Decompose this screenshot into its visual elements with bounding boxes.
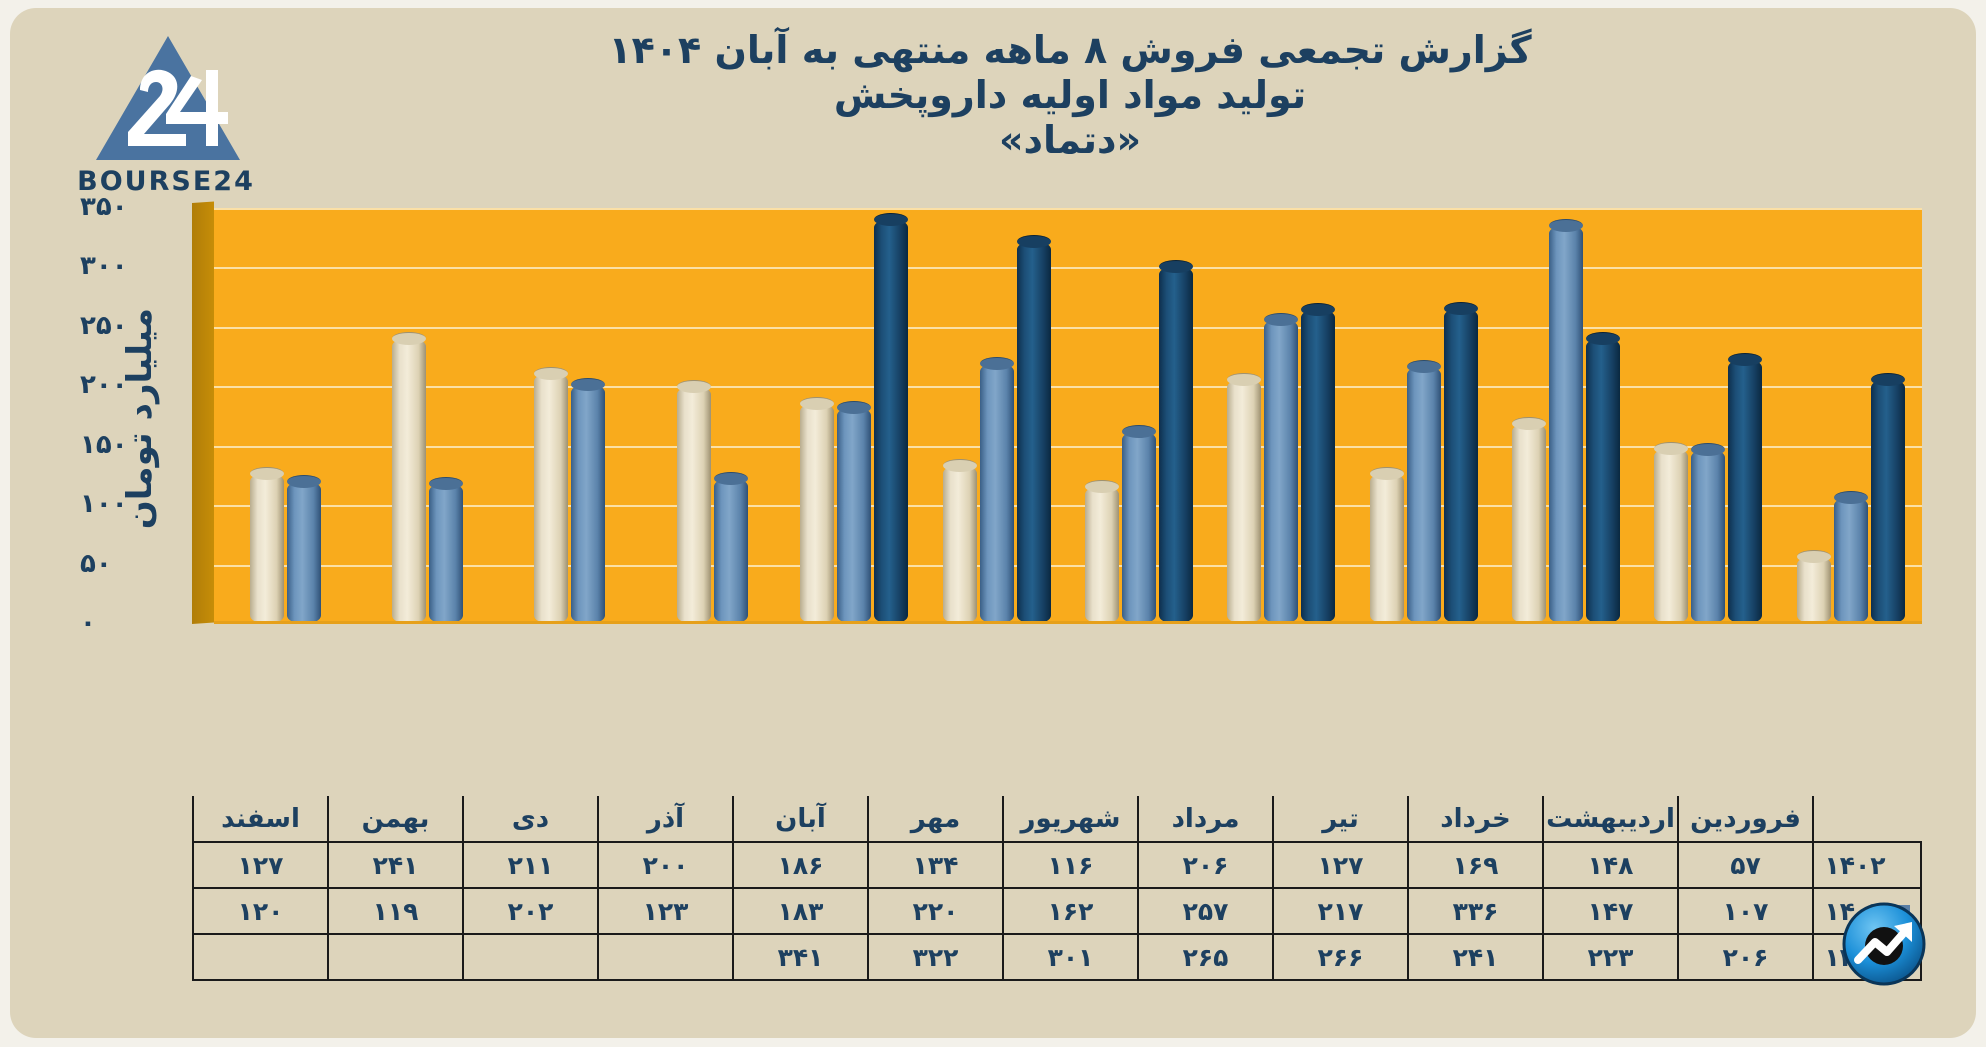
- table-cell: ۲۱۱: [463, 842, 598, 888]
- table-cell: ۵۷: [1678, 842, 1813, 888]
- table-cell: ۲۶۵: [1138, 934, 1273, 980]
- plot-area: [214, 208, 1922, 624]
- bar-۱۴۰۳-شهریور: [1122, 431, 1156, 624]
- bar-۱۴۰۳-آذر: [714, 478, 748, 624]
- bar-۱۴۰۳-بهمن: [429, 483, 463, 624]
- table-month-header: مهر: [868, 796, 1003, 842]
- table-month-header: آبان: [733, 796, 868, 842]
- table-row: ۱۴۰۴۲۰۶۲۲۳۲۴۱۲۶۶۲۶۵۳۰۱۳۲۲۳۴۱: [193, 934, 1921, 980]
- table-cell: ۲۰۲: [463, 888, 598, 934]
- table-cell: [598, 934, 733, 980]
- bar-۱۴۰۳-خرداد: [1549, 225, 1583, 624]
- table-cell: ۱۶۲: [1003, 888, 1138, 934]
- bar-cap: [677, 380, 711, 393]
- bar-group: [1210, 208, 1352, 624]
- bar-cap: [1407, 360, 1441, 373]
- bar-۱۴۰۴-خرداد: [1586, 338, 1620, 624]
- table-month-header: شهریور: [1003, 796, 1138, 842]
- bar-cap: [1797, 550, 1831, 563]
- table-cell: ۱۶۹: [1408, 842, 1543, 888]
- table-cell: ۲۱۷: [1273, 888, 1408, 934]
- table-cell: ۱۱۶: [1003, 842, 1138, 888]
- table-cell: ۳۲۲: [868, 934, 1003, 980]
- bar-cap: [392, 332, 426, 345]
- bar-cap: [1834, 491, 1868, 504]
- table-cell: ۱۲۰: [193, 888, 328, 934]
- bar-۱۴۰۲-اسفند: [250, 473, 284, 624]
- bar-۱۴۰۴-شهریور: [1159, 266, 1193, 624]
- table-month-header: بهمن: [328, 796, 463, 842]
- bar-۱۴۰۳-اردیبهشت: [1691, 449, 1725, 624]
- table-cell: ۱۰۷: [1678, 888, 1813, 934]
- data-table: فروردیناردیبهشتخردادتیرمردادشهریورمهرآبا…: [192, 796, 1922, 981]
- bar-cap: [429, 477, 463, 490]
- bar-۱۴۰۳-تیر: [1407, 366, 1441, 624]
- title-line-1: گزارش تجمعی فروش ۸ ماهه منتهی به آبان ۱۴…: [290, 28, 1850, 73]
- bar-cap: [1691, 443, 1725, 456]
- bar-۱۴۰۴-اردیبهشت: [1728, 359, 1762, 624]
- table-row-header-۱۴۰۲: ۱۴۰۲: [1813, 842, 1921, 888]
- table-body: ۱۴۰۲۵۷۱۴۸۱۶۹۱۲۷۲۰۶۱۱۶۱۳۴۱۸۶۲۰۰۲۱۱۲۴۱۱۲۷۱…: [193, 842, 1921, 980]
- table-month-header: خرداد: [1408, 796, 1543, 842]
- bar-۱۴۰۲-بهمن: [392, 338, 426, 624]
- bar-cap: [1122, 425, 1156, 438]
- bar-group: [214, 208, 356, 624]
- bar-cap: [1159, 260, 1193, 273]
- bar-cap: [1227, 373, 1261, 386]
- table-cell: ۱۸۳: [733, 888, 868, 934]
- title-line-3: «دتماد»: [290, 118, 1850, 163]
- bar-cap: [1871, 373, 1905, 386]
- bar-۱۴۰۴-مرداد: [1301, 309, 1335, 624]
- bar-۱۴۰۲-آبان: [800, 403, 834, 624]
- bar-۱۴۰۳-مرداد: [1264, 319, 1298, 624]
- bar-cap: [250, 467, 284, 480]
- bar-۱۴۰۴-فروردین: [1871, 379, 1905, 624]
- y-axis-tick-label: ۰: [80, 608, 170, 638]
- bar-cap: [943, 459, 977, 472]
- table-cell: ۲۲۳: [1543, 934, 1678, 980]
- table-cell: [463, 934, 598, 980]
- table-cell: ۲۰۶: [1678, 934, 1813, 980]
- bar-۱۴۰۳-اسفند: [287, 481, 321, 624]
- bar-group: [1068, 208, 1210, 624]
- bar-cap: [1301, 303, 1335, 316]
- bar-۱۴۰۲-تیر: [1370, 473, 1404, 624]
- table-cell: ۱۴۷: [1543, 888, 1678, 934]
- table-month-header: دی: [463, 796, 598, 842]
- bar-cap: [1444, 302, 1478, 315]
- table-row: ۱۴۰۲۵۷۱۴۸۱۶۹۱۲۷۲۰۶۱۱۶۱۳۴۱۸۶۲۰۰۲۱۱۲۴۱۱۲۷: [193, 842, 1921, 888]
- table-cell: ۲۴۱: [328, 842, 463, 888]
- bar-۱۴۰۳-آبان: [837, 407, 871, 625]
- bar-۱۴۰۴-تیر: [1444, 308, 1478, 624]
- table-cell: ۱۲۷: [193, 842, 328, 888]
- table-cell: ۱۳۴: [868, 842, 1003, 888]
- table-cell: ۳۳۶: [1408, 888, 1543, 934]
- table-month-header: اسفند: [193, 796, 328, 842]
- table-cell: ۱۲۳: [598, 888, 733, 934]
- bar-cap: [1586, 332, 1620, 345]
- bar-cap: [1654, 442, 1688, 455]
- bar-cap: [800, 397, 834, 410]
- bar-group: [499, 208, 641, 624]
- bar-cap: [714, 472, 748, 485]
- screenshot-root: BOURSE24 گزارش تجمعی فروش ۸ ماهه منتهی ب…: [0, 0, 1986, 1047]
- table-month-header: اردیبهشت: [1543, 796, 1678, 842]
- bar-group: [926, 208, 1068, 624]
- bar-۱۴۰۲-فروردین: [1797, 556, 1831, 624]
- bar-groups: [214, 208, 1922, 624]
- bar-۱۴۰۲-مرداد: [1227, 379, 1261, 624]
- bar-۱۴۰۳-فروردین: [1834, 497, 1868, 624]
- table-cell: ۲۵۷: [1138, 888, 1273, 934]
- table-cell: ۲۰۰: [598, 842, 733, 888]
- bar-۱۴۰۴-مهر: [1017, 241, 1051, 624]
- bar-group: [1637, 208, 1779, 624]
- bar-cap: [874, 213, 908, 226]
- table-cell: ۱۴۸: [1543, 842, 1678, 888]
- bar-cap: [534, 367, 568, 380]
- legend-label: ۱۴۰۲: [1824, 851, 1885, 880]
- logo-triangle-icon: [94, 34, 242, 162]
- bar-cap: [1549, 219, 1583, 232]
- table-month-header: تیر: [1273, 796, 1408, 842]
- table-cell: ۱۱۹: [328, 888, 463, 934]
- bar-group: [356, 208, 498, 624]
- table-row: ۱۴۰۳۱۰۷۱۴۷۳۳۶۲۱۷۲۵۷۱۶۲۲۲۰۱۸۳۱۲۳۲۰۲۱۱۹۱۲۰: [193, 888, 1921, 934]
- table-cell: ۱۸۶: [733, 842, 868, 888]
- bar-cap: [1728, 353, 1762, 366]
- bar-cap: [1017, 235, 1051, 248]
- report-card: BOURSE24 گزارش تجمعی فروش ۸ ماهه منتهی ب…: [10, 8, 1976, 1038]
- table-month-header: فروردین: [1678, 796, 1813, 842]
- table-cell: ۲۶۶: [1273, 934, 1408, 980]
- bar-cap: [837, 401, 871, 414]
- bar-۱۴۰۴-آبان: [874, 219, 908, 624]
- plot-side-wall: [192, 201, 214, 624]
- bar-cap: [1370, 467, 1404, 480]
- bar-۱۴۰۳-مهر: [980, 363, 1014, 624]
- page-title: گزارش تجمعی فروش ۸ ماهه منتهی به آبان ۱۴…: [290, 28, 1850, 163]
- bar-۱۴۰۲-مهر: [943, 465, 977, 624]
- bar-۱۴۰۲-اردیبهشت: [1654, 448, 1688, 624]
- table-cell: ۱۲۷: [1273, 842, 1408, 888]
- table-cell: [328, 934, 463, 980]
- bar-cap: [1085, 480, 1119, 493]
- bar-cap: [980, 357, 1014, 370]
- table-cell: ۲۲۰: [868, 888, 1003, 934]
- y-axis-tick-label: ۱۵۰: [80, 430, 170, 460]
- trend-up-badge-icon: [1842, 902, 1926, 986]
- bar-۱۴۰۲-خرداد: [1512, 423, 1546, 624]
- bar-cap: [1512, 417, 1546, 430]
- x-axis-baseline: [214, 621, 1922, 624]
- table-cell: ۲۰۶: [1138, 842, 1273, 888]
- bar-group: [1495, 208, 1637, 624]
- y-axis-tick-label: ۵۰: [80, 549, 170, 579]
- bar-۱۴۰۲-شهریور: [1085, 486, 1119, 624]
- bar-۱۴۰۳-دی: [571, 384, 605, 624]
- bar-group: [1353, 208, 1495, 624]
- y-axis-tick-label: ۳۵۰: [80, 192, 170, 222]
- bar-۱۴۰۲-آذر: [677, 386, 711, 624]
- bar-cap: [287, 475, 321, 488]
- table-cell: ۲۴۱: [1408, 934, 1543, 980]
- bar-group: [783, 208, 925, 624]
- data-table-wrapper: فروردیناردیبهشتخردادتیرمردادشهریورمهرآبا…: [192, 796, 1922, 981]
- table-corner-cell: [1813, 796, 1921, 842]
- bar-۱۴۰۲-دی: [534, 373, 568, 624]
- bar-cap: [571, 378, 605, 391]
- table-cell: [193, 934, 328, 980]
- table-month-header: مرداد: [1138, 796, 1273, 842]
- bar-chart: ۰۵۰۱۰۰۱۵۰۲۰۰۲۵۰۳۰۰۳۵۰: [192, 203, 1922, 643]
- table-cell: ۳۴۱: [733, 934, 868, 980]
- bar-group: [641, 208, 783, 624]
- y-axis-tick-label: ۲۰۰: [80, 370, 170, 400]
- bar-cap: [1264, 313, 1298, 326]
- table-cell: ۳۰۱: [1003, 934, 1138, 980]
- title-line-2: تولید مواد اولیه داروپخش: [290, 73, 1850, 118]
- y-axis-tick-label: ۳۰۰: [80, 251, 170, 281]
- y-axis-tick-label: ۲۵۰: [80, 311, 170, 341]
- table-header-row: فروردیناردیبهشتخردادتیرمردادشهریورمهرآبا…: [193, 796, 1921, 842]
- bourse24-logo: BOURSE24: [62, 34, 270, 206]
- table-month-header: آذر: [598, 796, 733, 842]
- y-axis-tick-label: ۱۰۰: [80, 489, 170, 519]
- bar-group: [1780, 208, 1922, 624]
